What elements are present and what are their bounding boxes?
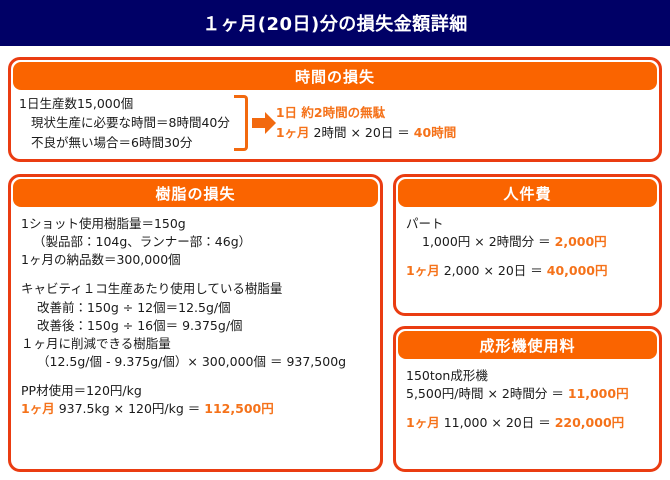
time-loss-result-daily-text: 1日 約2時間の無駄 bbox=[276, 105, 385, 120]
time-loss-line-3: 不良が無い場合＝6時間30分 bbox=[19, 133, 230, 152]
panel-labor-cost: 人件費 パート 1,000円 × 2時間分 ＝ 2,000円 1ヶ月 2,000… bbox=[393, 174, 662, 316]
machine-daily-value: 11,000円 bbox=[568, 386, 629, 401]
resin-total-expr: 937.5kg × 120円/kg ＝ bbox=[59, 401, 201, 416]
machine-line-model: 150ton成形機 bbox=[406, 367, 649, 385]
time-loss-inputs: 1日生産数15,000個 現状生産に必要な時間＝8時間40分 不良が無い場合＝6… bbox=[19, 94, 230, 152]
resin-line-reduction-title: １ヶ月に削減できる樹脂量 bbox=[21, 335, 370, 353]
loss-breakdown-page: １ヶ月(20日)分の損失金額詳細 時間の損失 1日生産数15,000個 現状生産… bbox=[0, 0, 670, 480]
machine-daily-row: 5,500円/時間 × 2時間分 ＝ 11,000円 bbox=[406, 385, 649, 403]
time-loss-line-2: 現状生産に必要な時間＝8時間40分 bbox=[19, 113, 230, 132]
machine-total-expr: 11,000 × 20日 ＝ bbox=[444, 415, 551, 430]
time-loss-results: 1日 約2時間の無駄 1ヶ月 2時間 × 20日 ＝ 40時間 bbox=[276, 103, 456, 143]
resin-line-pp-price: PP材使用＝120円/kg bbox=[21, 382, 370, 400]
resin-line-reduction-calc: （12.5g/個 - 9.375g/個）× 300,000個 ＝ 937,500… bbox=[21, 353, 370, 371]
panel-body-machine-fee: 150ton成形機 5,500円/時間 × 2時間分 ＝ 11,000円 1ヶ月… bbox=[396, 359, 659, 438]
time-loss-monthly-prefix: 1ヶ月 bbox=[276, 125, 310, 140]
page-title: １ヶ月(20日)分の損失金額詳細 bbox=[202, 10, 468, 36]
panel-title-resin-loss: 樹脂の損失 bbox=[155, 183, 235, 204]
labor-total-value: 40,000円 bbox=[547, 263, 608, 278]
panel-header-resin-loss: 樹脂の損失 bbox=[13, 179, 378, 207]
labor-daily-expr: 1,000円 × 2時間分 ＝ bbox=[422, 234, 551, 249]
panel-body-time-loss: 1日生産数15,000個 現状生産に必要な時間＝8時間40分 不良が無い場合＝6… bbox=[11, 90, 659, 156]
resin-total-row: 1ヶ月 937.5kg × 120円/kg ＝ 112,500円 bbox=[21, 400, 370, 418]
panel-resin-loss: 樹脂の損失 1ショット使用樹脂量＝150g （製品部：104g、ランナー部：46… bbox=[8, 174, 383, 472]
time-loss-line-1: 1日生産数15,000個 bbox=[19, 94, 230, 113]
panel-header-machine-fee: 成形機使用料 bbox=[398, 331, 657, 359]
panel-machine-fee: 成形機使用料 150ton成形機 5,500円/時間 × 2時間分 ＝ 11,0… bbox=[393, 326, 662, 472]
time-loss-monthly-expr: 2時間 × 20日 ＝ bbox=[314, 125, 410, 140]
panel-header-time-loss: 時間の損失 bbox=[13, 62, 657, 90]
panel-body-labor-cost: パート 1,000円 × 2時間分 ＝ 2,000円 1ヶ月 2,000 × 2… bbox=[396, 207, 659, 286]
machine-total-value: 220,000円 bbox=[555, 415, 624, 430]
resin-total-value: 112,500円 bbox=[204, 401, 273, 416]
resin-total-prefix: 1ヶ月 bbox=[21, 401, 55, 416]
labor-total-expr: 2,000 × 20日 ＝ bbox=[444, 263, 543, 278]
time-loss-monthly-value: 40時間 bbox=[414, 125, 456, 140]
resin-line-after: 改善後：150g ÷ 16個＝ 9.375g/個 bbox=[21, 317, 370, 335]
panel-title-labor-cost: 人件費 bbox=[503, 183, 551, 204]
machine-daily-expr: 5,500円/時間 × 2時間分 ＝ bbox=[406, 386, 564, 401]
labor-daily-value: 2,000円 bbox=[555, 234, 607, 249]
panel-title-machine-fee: 成形機使用料 bbox=[479, 335, 575, 356]
labor-total-row: 1ヶ月 2,000 × 20日 ＝ 40,000円 bbox=[406, 262, 649, 280]
page-title-bar: １ヶ月(20日)分の損失金額詳細 bbox=[0, 0, 670, 46]
machine-total-row: 1ヶ月 11,000 × 20日 ＝ 220,000円 bbox=[406, 414, 649, 432]
right-square-bracket-icon bbox=[234, 95, 248, 151]
labor-line-role: パート bbox=[406, 215, 649, 233]
resin-line-cavity-title: キャビティ１コ生産あたり使用している樹脂量 bbox=[21, 280, 370, 298]
resin-line-monthly-delivery: 1ヶ月の納品数＝300,000個 bbox=[21, 251, 370, 269]
resin-line-parts-breakdown: （製品部：104g、ランナー部：46g） bbox=[21, 233, 370, 251]
machine-total-prefix: 1ヶ月 bbox=[406, 415, 440, 430]
resin-line-shot-amount: 1ショット使用樹脂量＝150g bbox=[21, 215, 370, 233]
labor-total-prefix: 1ヶ月 bbox=[406, 263, 440, 278]
panel-body-resin-loss: 1ショット使用樹脂量＝150g （製品部：104g、ランナー部：46g） 1ヶ月… bbox=[11, 207, 380, 424]
labor-daily-row: 1,000円 × 2時間分 ＝ 2,000円 bbox=[406, 233, 649, 251]
panel-time-loss: 時間の損失 1日生産数15,000個 現状生産に必要な時間＝8時間40分 不良が… bbox=[8, 57, 662, 162]
resin-spacer-2 bbox=[21, 371, 370, 382]
panel-title-time-loss: 時間の損失 bbox=[295, 66, 375, 87]
time-loss-result-daily: 1日 約2時間の無駄 bbox=[276, 103, 456, 123]
time-loss-result-monthly: 1ヶ月 2時間 × 20日 ＝ 40時間 bbox=[276, 123, 456, 143]
panel-header-labor-cost: 人件費 bbox=[398, 179, 657, 207]
labor-spacer bbox=[406, 251, 649, 262]
resin-line-before: 改善前：150g ÷ 12個＝12.5g/個 bbox=[21, 299, 370, 317]
resin-spacer-1 bbox=[21, 269, 370, 280]
machine-spacer bbox=[406, 403, 649, 414]
